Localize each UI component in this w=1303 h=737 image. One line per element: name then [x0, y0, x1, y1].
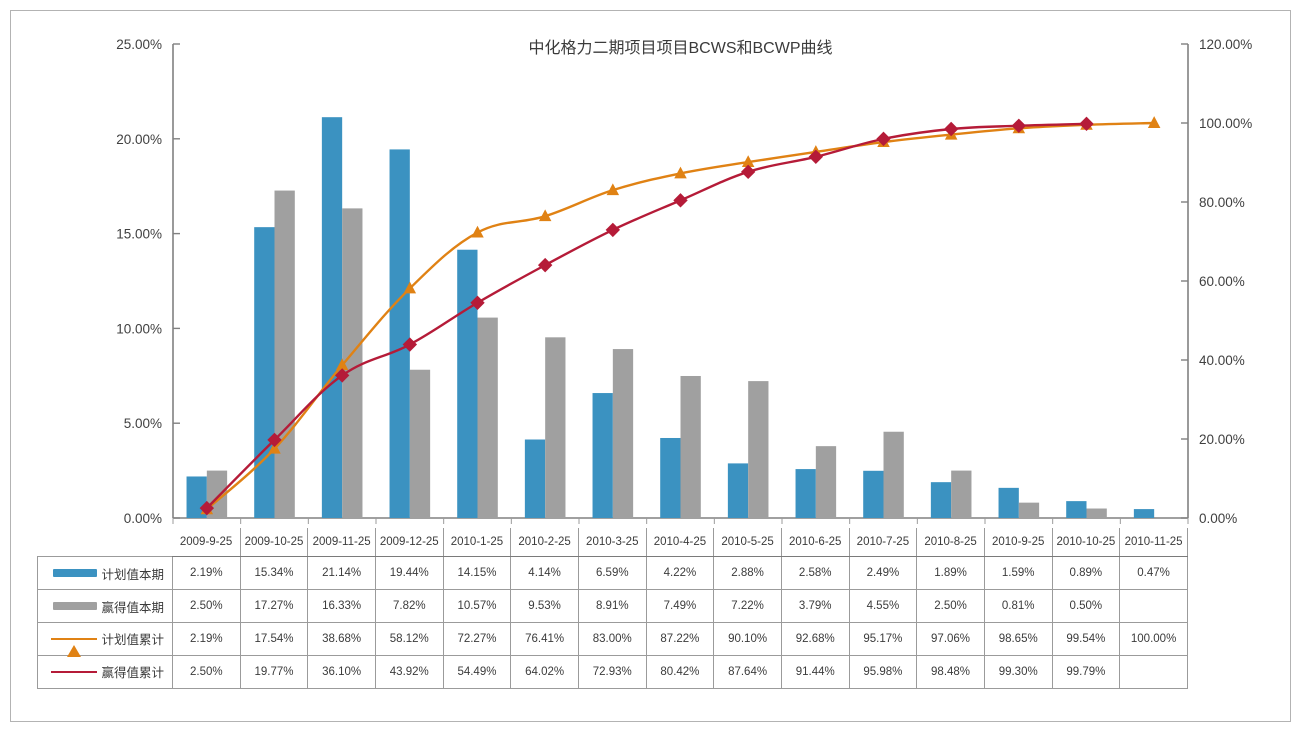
- table-cell: 15.34%: [240, 557, 308, 590]
- table-cell: 2.19%: [173, 557, 241, 590]
- table-cell: 17.54%: [240, 623, 308, 656]
- table-cell: 92.68%: [781, 623, 849, 656]
- table-cell: 90.10%: [714, 623, 782, 656]
- table-col-header: 2010-9-25: [984, 528, 1052, 557]
- table-cell: 64.02%: [511, 656, 579, 689]
- table-body: 计划值本期2.19%15.34%21.14%19.44%14.15%4.14%6…: [38, 557, 1188, 689]
- table-col-header: 2010-5-25: [714, 528, 782, 557]
- table-cell: 2.49%: [849, 557, 917, 590]
- legend-line-segment: [51, 671, 97, 673]
- table-cell: 10.57%: [443, 590, 511, 623]
- table-cell: 99.30%: [984, 656, 1052, 689]
- legend-bar-swatch: [53, 569, 97, 577]
- legend-cell-4: 赢得值累计: [38, 656, 173, 689]
- table-cell: 19.77%: [240, 656, 308, 689]
- table-cell: 0.81%: [984, 590, 1052, 623]
- table-cell: 3.79%: [781, 590, 849, 623]
- table-cell: 98.48%: [917, 656, 985, 689]
- legend-line-swatch: [51, 665, 97, 679]
- legend-label: 计划值累计: [101, 629, 164, 648]
- table-col-header: 2009-9-25: [173, 528, 241, 557]
- table-row: 计划值累计2.19%17.54%38.68%58.12%72.27%76.41%…: [38, 623, 1188, 656]
- table-cell: 99.54%: [1052, 623, 1120, 656]
- table-cell: 76.41%: [511, 623, 579, 656]
- table-row: 计划值本期2.19%15.34%21.14%19.44%14.15%4.14%6…: [38, 557, 1188, 590]
- table-cell: 91.44%: [781, 656, 849, 689]
- legend-label: 赢得值本期: [101, 597, 164, 616]
- table-cell: 21.14%: [308, 557, 376, 590]
- table-col-header: 2009-11-25: [308, 528, 376, 557]
- table-cell: 16.33%: [308, 590, 376, 623]
- legend-cell-3: 计划值累计: [38, 623, 173, 656]
- triangle-marker-icon: [67, 633, 81, 657]
- table-cell: 0.47%: [1120, 557, 1188, 590]
- table-col-header: 2010-3-25: [578, 528, 646, 557]
- table-cell: 4.22%: [646, 557, 714, 590]
- legend-cell-1: 计划值本期: [38, 557, 173, 590]
- table-cell: 100.00%: [1120, 623, 1188, 656]
- table-cell: 95.98%: [849, 656, 917, 689]
- table-row: 赢得值累计2.50%19.77%36.10%43.92%54.49%64.02%…: [38, 656, 1188, 689]
- legend-label: 计划值本期: [101, 564, 164, 583]
- table-cell: 19.44%: [375, 557, 443, 590]
- table-cell: 7.22%: [714, 590, 782, 623]
- table-cell: 2.50%: [173, 656, 241, 689]
- table-cell: 97.06%: [917, 623, 985, 656]
- legend-line-swatch: [51, 632, 97, 646]
- table-cell: 87.64%: [714, 656, 782, 689]
- legend-bar-swatch: [53, 602, 97, 610]
- table-cell: 0.50%: [1052, 590, 1120, 623]
- table-cell: 72.27%: [443, 623, 511, 656]
- table-cell: 80.42%: [646, 656, 714, 689]
- table-cell: 17.27%: [240, 590, 308, 623]
- table-col-header: 2010-11-25: [1120, 528, 1188, 557]
- legend-cell-2: 赢得值本期: [38, 590, 173, 623]
- table-cell: 14.15%: [443, 557, 511, 590]
- table-col-header: 2010-6-25: [781, 528, 849, 557]
- table-col-header: 2010-10-25: [1052, 528, 1120, 557]
- table-cell: 83.00%: [578, 623, 646, 656]
- table-cell: 2.19%: [173, 623, 241, 656]
- table-cell: 87.22%: [646, 623, 714, 656]
- table-cell: 4.55%: [849, 590, 917, 623]
- table-cell: 2.50%: [173, 590, 241, 623]
- chart-page: 中化格力二期项目项目BCWS和BCWP曲线0.00%5.00%10.00%15.…: [0, 0, 1303, 737]
- table-cell: 9.53%: [511, 590, 579, 623]
- table-cell: 58.12%: [375, 623, 443, 656]
- legend-label: 赢得值累计: [101, 662, 164, 681]
- table-cell: 7.49%: [646, 590, 714, 623]
- table-cell: 38.68%: [308, 623, 376, 656]
- table-cell: 36.10%: [308, 656, 376, 689]
- table-cell: 0.89%: [1052, 557, 1120, 590]
- table-row: 赢得值本期2.50%17.27%16.33%7.82%10.57%9.53%8.…: [38, 590, 1188, 623]
- table-col-header: 2010-7-25: [849, 528, 917, 557]
- table-cell: 2.88%: [714, 557, 782, 590]
- table-cell: 98.65%: [984, 623, 1052, 656]
- table-cell: 6.59%: [578, 557, 646, 590]
- table-corner-cell: [38, 528, 173, 557]
- table-col-header: 2010-1-25: [443, 528, 511, 557]
- table-cell: 2.58%: [781, 557, 849, 590]
- table-col-header: 2010-4-25: [646, 528, 714, 557]
- table-cell: 54.49%: [443, 656, 511, 689]
- table-header-row: 2009-9-252009-10-252009-11-252009-12-252…: [38, 528, 1188, 557]
- legend-marker: [67, 633, 81, 645]
- table-cell: 1.59%: [984, 557, 1052, 590]
- table-cell: [1120, 656, 1188, 689]
- table-cell: 8.91%: [578, 590, 646, 623]
- table-col-header: 2009-12-25: [375, 528, 443, 557]
- table-cell: 2.50%: [917, 590, 985, 623]
- table-cell: 99.79%: [1052, 656, 1120, 689]
- table-col-header: 2010-8-25: [917, 528, 985, 557]
- table-col-header: 2010-2-25: [511, 528, 579, 557]
- table-cell: [1120, 590, 1188, 623]
- table-cell: 1.89%: [917, 557, 985, 590]
- table-col-header: 2009-10-25: [240, 528, 308, 557]
- table-cell: 43.92%: [375, 656, 443, 689]
- chart-data-table: 2009-9-252009-10-252009-11-252009-12-252…: [37, 528, 1188, 689]
- table-cell: 7.82%: [375, 590, 443, 623]
- table-cell: 72.93%: [578, 656, 646, 689]
- table-cell: 95.17%: [849, 623, 917, 656]
- table-cell: 4.14%: [511, 557, 579, 590]
